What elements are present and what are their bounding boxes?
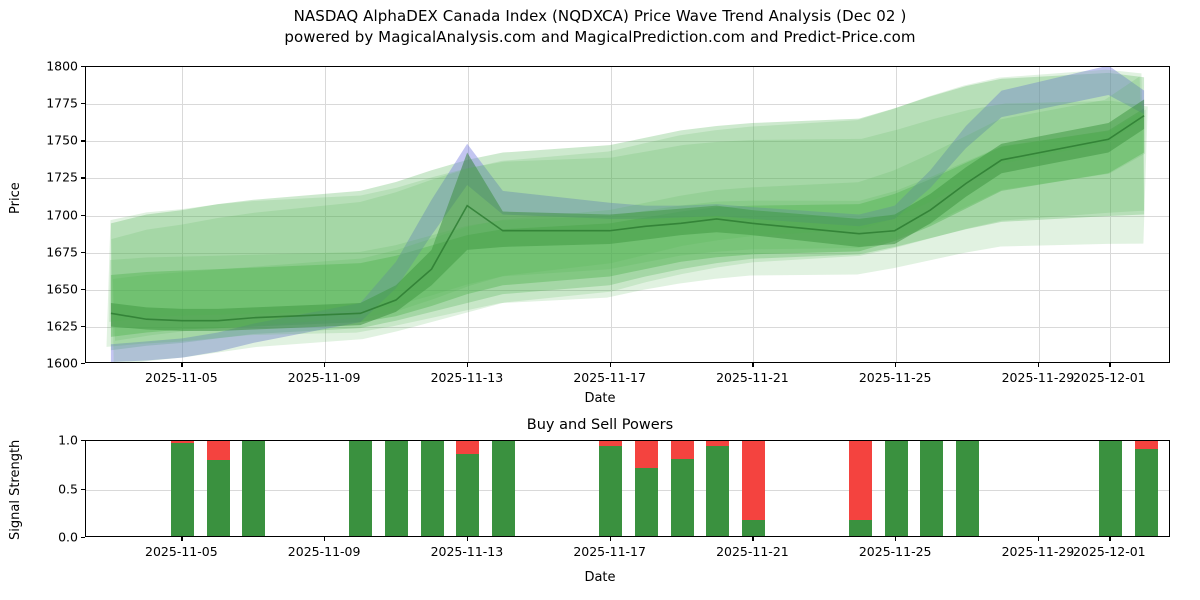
buy-power-segment [671,459,694,536]
signal-bar [242,440,265,536]
y-tick-label: 1625 [0,318,78,333]
y-tick-mark [81,537,85,538]
signal-bar [885,440,908,536]
buy-power-segment [706,446,729,536]
y-tick-label: 0.0 [0,530,78,545]
sell-power-segment [207,440,230,460]
buy-power-segment [956,440,979,536]
x-tick-label: 2025-11-05 [145,370,218,385]
x-tick-label: 2025-11-21 [716,370,789,385]
x-tick-label: 2025-11-29 [1002,370,1075,385]
x-tick-mark [1109,363,1110,367]
price-wave-chart [85,66,1170,363]
signal-bar [671,440,694,536]
sell-power-segment [671,440,694,459]
y-tick-label: 1800 [0,59,78,74]
y-tick-mark [81,363,85,364]
sell-power-segment [635,440,658,468]
x-tick-mark [752,363,753,367]
signal-bar [492,440,515,536]
chart-page: NASDAQ AlphaDEX Canada Index (NQDXCA) Pr… [0,0,1200,600]
signal-plot-area [85,440,1170,537]
signal-axis-label-x: Date [0,570,1200,585]
signal-bar [849,440,872,536]
buy-power-segment [1099,440,1122,536]
x-tick-mark [610,363,611,367]
signal-bar [171,440,194,536]
title-line-2: powered by MagicalAnalysis.com and Magic… [0,27,1200,48]
signal-bar [920,440,943,536]
x-tick-label: 2025-11-25 [859,370,932,385]
signal-bar [1135,440,1158,536]
x-tick-mark [1038,363,1039,367]
x-tick-label: 2025-11-25 [859,544,932,559]
buy-power-segment [635,468,658,536]
x-tick-label: 2025-11-13 [431,370,504,385]
x-tick-label: 2025-12-01 [1073,370,1146,385]
buy-power-segment [349,440,372,536]
signal-bar [421,440,444,536]
x-tick-mark [895,363,896,367]
x-tick-mark [324,363,325,367]
x-tick-label: 2025-11-21 [716,544,789,559]
signal-bar [706,440,729,536]
sell-power-segment [742,440,765,520]
x-tick-label: 2025-11-17 [573,544,646,559]
x-tick-label: 2025-11-13 [431,544,504,559]
buy-power-segment [742,520,765,536]
buy-sell-powers-chart [85,440,1170,537]
buy-power-segment [599,446,622,536]
signal-bar [385,440,408,536]
x-tick-label: 2025-11-05 [145,544,218,559]
y-tick-label: 1750 [0,133,78,148]
x-tick-mark [752,537,753,541]
buy-power-segment [492,440,515,536]
x-tick-mark [181,537,182,541]
buy-power-segment [920,440,943,536]
signal-bar [207,440,230,536]
y-tick-label: 1600 [0,356,78,371]
signal-bar [1099,440,1122,536]
buy-power-segment [849,520,872,536]
price-wave-bands [86,67,1169,362]
y-tick-label: 1775 [0,96,78,111]
buy-power-segment [242,440,265,536]
x-tick-mark [1109,537,1110,541]
x-tick-label: 2025-11-17 [573,370,646,385]
signal-bar [349,440,372,536]
y-tick-label: 1.0 [0,433,78,448]
buy-power-segment [885,440,908,536]
signal-bar [742,440,765,536]
price-axis-label-x: Date [0,391,1200,406]
sell-power-segment [456,440,479,454]
sell-power-segment [1135,440,1158,449]
x-tick-mark [467,537,468,541]
buy-power-segment [456,454,479,536]
price-plot-area [85,66,1170,363]
y-tick-label: 1675 [0,244,78,259]
buy-power-segment [1135,449,1158,536]
x-tick-mark [181,363,182,367]
title-line-1: NASDAQ AlphaDEX Canada Index (NQDXCA) Pr… [0,6,1200,27]
x-tick-label: 2025-11-09 [288,370,361,385]
buy-power-segment [421,440,444,536]
x-tick-label: 2025-12-01 [1073,544,1146,559]
buy-power-segment [171,443,194,536]
x-tick-label: 2025-11-29 [1002,544,1075,559]
signal-bar [956,440,979,536]
y-tick-label: 1725 [0,170,78,185]
x-tick-mark [1038,537,1039,541]
page-title: NASDAQ AlphaDEX Canada Index (NQDXCA) Pr… [0,6,1200,48]
signal-bar [599,440,622,536]
y-tick-label: 1700 [0,207,78,222]
x-tick-mark [467,363,468,367]
x-tick-mark [895,537,896,541]
y-tick-label: 1650 [0,281,78,296]
x-tick-label: 2025-11-09 [288,544,361,559]
signal-bar [635,440,658,536]
signal-bar [456,440,479,536]
signal-chart-title: Buy and Sell Powers [0,417,1200,433]
sell-power-segment [849,440,872,520]
x-tick-mark [324,537,325,541]
buy-power-segment [207,460,230,536]
y-tick-label: 0.5 [0,481,78,496]
x-tick-mark [610,537,611,541]
buy-power-segment [385,440,408,536]
